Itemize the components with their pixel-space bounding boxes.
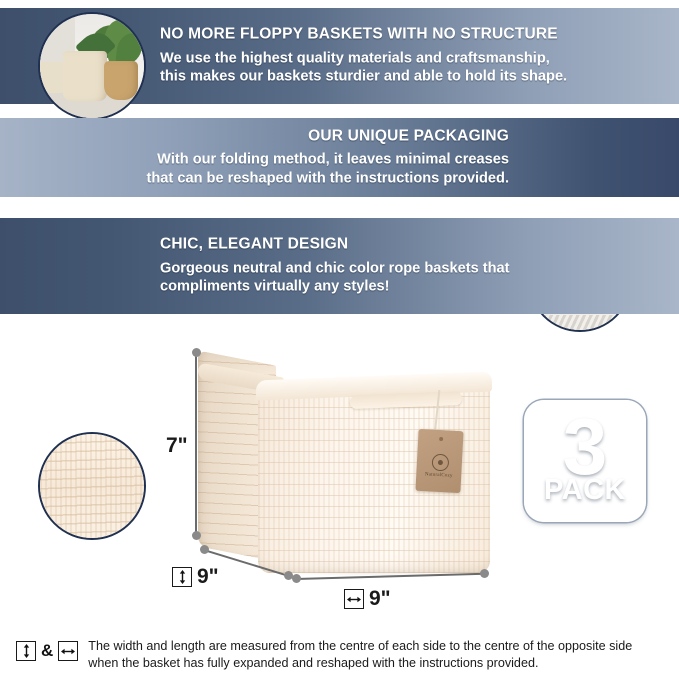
photo-1-basket — [63, 51, 107, 101]
feature-body-1-line-2: this makes our baskets sturdier and able… — [160, 68, 653, 86]
hang-tag-hole — [439, 437, 443, 441]
width-label: 9" — [369, 587, 391, 611]
horizontal-double-arrow-icon — [344, 589, 364, 609]
feature-body-3-line-1: Gorgeous neutral and chic color rope bas… — [160, 260, 653, 278]
depth-dimension: 9" — [172, 565, 219, 589]
measurement-footnote: & The width and length are measured from… — [16, 638, 665, 671]
depth-label: 9" — [197, 565, 219, 589]
feature-banner-2: OUR UNIQUE PACKAGING With our folding me… — [0, 118, 679, 197]
brand-logo-icon — [431, 454, 449, 472]
feature-body-3: Gorgeous neutral and chic color rope bas… — [160, 260, 653, 297]
feature-body-3-line-2: compliments virtually any styles! — [160, 278, 653, 296]
vertical-double-arrow-icon — [16, 641, 36, 661]
height-guide-line — [195, 352, 197, 535]
footnote-icons: & — [16, 638, 78, 661]
vertical-double-arrow-icon — [172, 567, 192, 587]
hang-tag-brand: NaturalCozy — [416, 472, 461, 479]
feature-body-2-line-1: With our folding method, it leaves minim… — [26, 151, 509, 169]
footnote-separator: & — [41, 641, 53, 661]
depth-marker-start — [200, 545, 209, 554]
width-marker-end — [480, 569, 489, 578]
feature-body-1-line-1: We use the highest quality materials and… — [160, 50, 653, 68]
feature-body-1: We use the highest quality materials and… — [160, 50, 653, 87]
hang-tag: NaturalCozy — [415, 429, 463, 493]
width-dimension: 9" — [344, 587, 391, 611]
feature-title-3: CHIC, ELEGANT DESIGN — [160, 236, 653, 254]
basket-with-plants-photo — [38, 12, 146, 120]
pack-word: PACK — [544, 476, 626, 505]
pack-count: 3 — [563, 413, 608, 482]
feature-title-2: OUR UNIQUE PACKAGING — [26, 127, 509, 145]
feature-body-2-line-2: that can be reshaped with the instructio… — [26, 169, 509, 187]
feature-text-3: CHIC, ELEGANT DESIGN Gorgeous neutral an… — [160, 236, 653, 297]
horizontal-double-arrow-icon — [58, 641, 78, 661]
feature-title-1: NO MORE FLOPPY BASKETS WITH NO STRUCTURE — [160, 26, 653, 44]
footnote-line-1: The width and length are measured from t… — [88, 638, 632, 655]
photo-1-content — [40, 14, 144, 118]
feature-row-1: NO MORE FLOPPY BASKETS WITH NO STRUCTURE… — [0, 8, 679, 104]
feature-banner-3: CHIC, ELEGANT DESIGN Gorgeous neutral an… — [0, 218, 679, 314]
footnote-line-2: when the basket has fully expanded and r… — [88, 655, 632, 672]
photo-1-woven-pot — [104, 61, 137, 101]
feature-body-2: With our folding method, it leaves minim… — [26, 151, 509, 188]
feature-row-2: OUR UNIQUE PACKAGING With our folding me… — [0, 118, 679, 197]
three-pack-badge: 3 PACK — [524, 400, 646, 522]
height-marker-bottom — [192, 531, 201, 540]
feature-text-2: OUR UNIQUE PACKAGING With our folding me… — [26, 127, 509, 188]
feature-row-3: CHIC, ELEGANT DESIGN Gorgeous neutral an… — [0, 218, 679, 314]
width-marker-start — [292, 574, 301, 583]
feature-text-1: NO MORE FLOPPY BASKETS WITH NO STRUCTURE… — [160, 26, 653, 87]
rope-basket-image: NaturalCozy — [198, 358, 490, 573]
photo-1-side-box — [38, 62, 63, 93]
footnote-text: The width and length are measured from t… — [84, 638, 632, 671]
height-marker-top — [192, 348, 201, 357]
height-label: 7" — [166, 434, 188, 458]
